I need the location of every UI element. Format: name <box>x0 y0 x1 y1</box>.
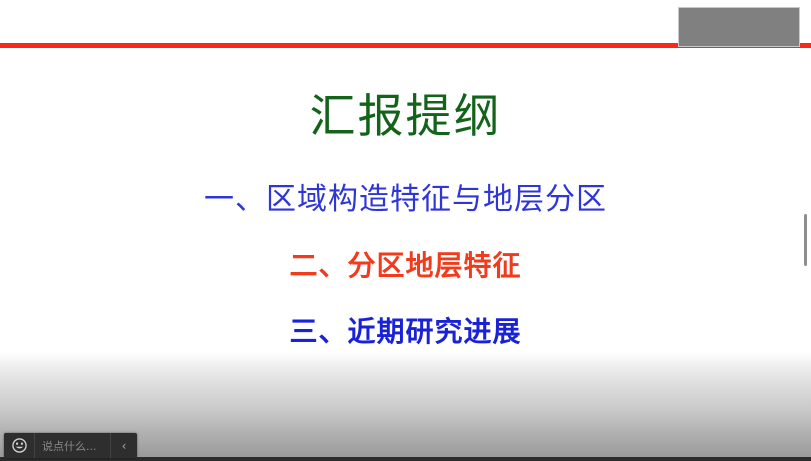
presentation-slide: 汇报提纲 一、区域构造特征与地层分区 二、分区地层特征 三、近期研究进展 <box>0 0 811 461</box>
slide-title: 汇报提纲 <box>0 88 811 144</box>
slide-header-placeholder-block <box>678 7 800 47</box>
smiley-face-icon <box>12 438 27 453</box>
outline-item-3: 三、近期研究进展 <box>0 313 811 351</box>
outline-item-2: 二、分区地层特征 <box>0 247 811 285</box>
comment-input-bar[interactable]: 说点什么... ‹ <box>4 433 137 458</box>
emoji-picker-button[interactable] <box>4 433 35 458</box>
vertical-scrollbar[interactable] <box>805 0 811 420</box>
comment-input-field[interactable]: 说点什么... <box>35 433 110 458</box>
vertical-scrollbar-thumb[interactable] <box>804 214 807 266</box>
outline-item-1: 一、区域构造特征与地层分区 <box>0 180 811 220</box>
video-player-viewport: 汇报提纲 一、区域构造特征与地层分区 二、分区地层特征 三、近期研究进展 说点什… <box>0 0 811 461</box>
chevron-left-icon[interactable]: ‹ <box>110 433 137 458</box>
